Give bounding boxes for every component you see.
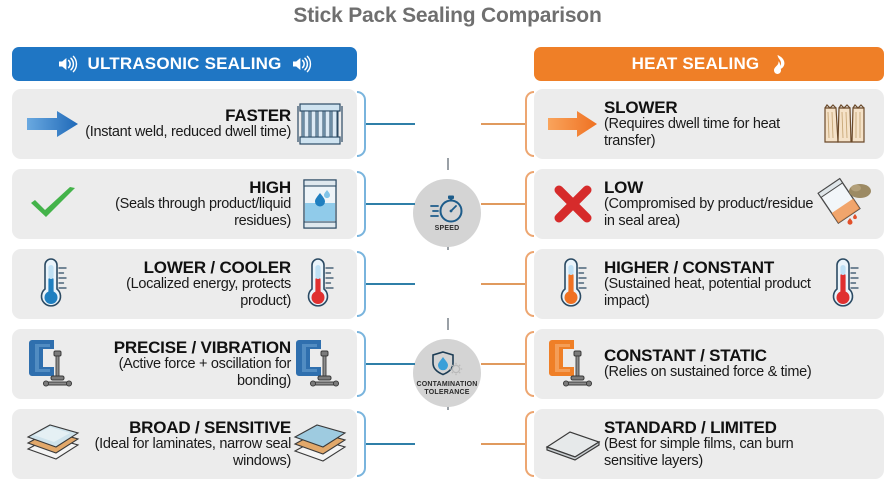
header-ultrasonic-label: ULTRASONIC SEALING	[87, 54, 281, 74]
red-x-icon	[542, 184, 604, 224]
card-sub: (Relies on sustained force & time)	[604, 364, 816, 381]
orange-thermometer-icon	[542, 257, 604, 311]
card-head: HIGHER / CONSTANT	[604, 259, 816, 276]
card-head: LOWER / COOLER	[84, 259, 291, 276]
comparison-row: LOWER / COOLER (Localized energy, protec…	[0, 249, 895, 319]
row-edge-right	[525, 331, 534, 397]
blue-clamp-icon	[291, 336, 349, 392]
page-title: Stick Pack Sealing Comparison	[0, 4, 895, 28]
red-thermometer-icon	[816, 257, 874, 311]
flame-icon	[769, 55, 786, 74]
orange-clamp-icon	[542, 336, 604, 392]
card-sub: (Localized energy, protects product)	[84, 276, 291, 310]
liquid-sachet-icon	[291, 177, 349, 231]
card-ultrasonic-contamination: HIGH (Seals through product/liquid resid…	[12, 169, 357, 239]
connector-left	[366, 443, 415, 445]
single-film-sheet-icon	[542, 423, 604, 465]
card-sub: (Sustained heat, potential product impac…	[604, 276, 816, 310]
card-sub: (Compromised by product/residue in seal …	[604, 196, 816, 230]
card-sub: (Requires dwell time for heat transfer)	[604, 116, 816, 150]
red-thermometer-icon	[291, 257, 349, 311]
card-ultrasonic-film: BROAD / SENSITIVE (Ideal for laminates, …	[12, 409, 357, 479]
row-edge-right	[525, 91, 534, 157]
comparison-row: HIGH (Seals through product/liquid resid…	[0, 169, 895, 239]
row-edge-left	[357, 171, 366, 237]
card-head: BROAD / SENSITIVE	[84, 419, 291, 436]
row-edge-left	[357, 331, 366, 397]
connector-left	[366, 203, 415, 205]
stick-packs-icon	[816, 98, 874, 150]
row-edge-left	[357, 411, 366, 477]
card-head: CONSTANT / STATIC	[604, 347, 816, 364]
blue-clamp-icon	[22, 336, 84, 392]
connector-right	[481, 123, 525, 125]
blue-arrow-right-icon	[22, 109, 84, 139]
speaker-wave-icon	[58, 56, 77, 72]
connector-right	[481, 203, 525, 205]
film-layers-icon	[291, 419, 349, 469]
card-ultrasonic-speed: FASTER (Instant weld, reduced dwell time…	[12, 89, 357, 159]
card-head: PRECISE / VIBRATION	[84, 339, 291, 356]
card-head: LOW	[604, 179, 816, 196]
row-edge-left	[357, 91, 366, 157]
card-head: SLOWER	[604, 99, 816, 116]
card-sub: (Best for simple films, can burn sensiti…	[604, 436, 816, 470]
card-sub: (Instant weld, reduced dwell time)	[84, 124, 291, 141]
connector-left	[366, 123, 415, 125]
card-head: FASTER	[84, 107, 291, 124]
infographic-root: Stick Pack Sealing Comparison ULTRASONIC…	[0, 0, 895, 482]
spilled-powder-icon	[816, 178, 874, 230]
blue-thermometer-icon	[22, 257, 84, 311]
card-sub: (Seals through product/liquid residues)	[84, 196, 291, 230]
card-sub: (Ideal for laminates, narrow seal window…	[84, 436, 291, 470]
row-edge-left	[357, 251, 366, 317]
card-heat-temperature: HIGHER / CONSTANT (Sustained heat, poten…	[534, 249, 884, 319]
comparison-row: PRECISE / VIBRATION (Active force + osci…	[0, 329, 895, 399]
card-ultrasonic-temperature: LOWER / COOLER (Localized energy, protec…	[12, 249, 357, 319]
card-head: HIGH	[84, 179, 291, 196]
card-heat-film: STANDARD / LIMITED (Best for simple film…	[534, 409, 884, 479]
speaker-wave-icon	[292, 56, 311, 72]
card-sub: (Active force + oscillation for bonding)	[84, 356, 291, 390]
header-heat: HEAT SEALING	[534, 47, 884, 81]
card-heat-pressure: CONSTANT / STATIC (Relies on sustained f…	[534, 329, 884, 399]
connector-left	[366, 363, 415, 365]
header-heat-label: HEAT SEALING	[632, 54, 760, 74]
connector-right	[481, 363, 525, 365]
film-layers-icon	[22, 419, 84, 469]
row-edge-right	[525, 251, 534, 317]
card-ultrasonic-pressure: PRECISE / VIBRATION (Active force + osci…	[12, 329, 357, 399]
row-edge-right	[525, 411, 534, 477]
connector-right	[481, 283, 525, 285]
green-check-icon	[22, 186, 84, 222]
comparison-row: FASTER (Instant weld, reduced dwell time…	[0, 89, 895, 159]
header-ultrasonic: ULTRASONIC SEALING	[12, 47, 357, 81]
ultrasonic-horn-stack-icon	[291, 96, 349, 152]
comparison-row: BROAD / SENSITIVE (Ideal for laminates, …	[0, 409, 895, 479]
connector-left	[366, 283, 415, 285]
connector-right	[481, 443, 525, 445]
orange-arrow-right-icon	[542, 109, 604, 139]
row-edge-right	[525, 171, 534, 237]
card-head: STANDARD / LIMITED	[604, 419, 816, 436]
card-heat-speed: SLOWER (Requires dwell time for heat tra…	[534, 89, 884, 159]
card-heat-contamination: LOW (Compromised by product/residue in s…	[534, 169, 884, 239]
